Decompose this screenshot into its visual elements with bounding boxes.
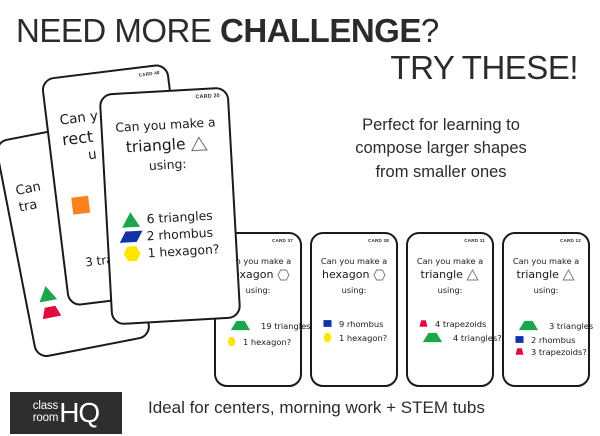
task-card-row-3[interactable]: CARD 11 Can you make a triangle using: 4… bbox=[406, 232, 494, 387]
green-triangle-icon bbox=[423, 333, 442, 342]
card-item bbox=[41, 305, 62, 319]
card-number: CARD 37 bbox=[272, 238, 293, 243]
card-question-line-3: using: bbox=[408, 284, 492, 296]
card-item-list: 4 trapezoids 4 triangles? bbox=[417, 318, 502, 346]
green-triangle-icon bbox=[37, 284, 58, 302]
card-number: CARD 12 bbox=[560, 238, 581, 243]
card-question-line-1: Can you make a bbox=[408, 255, 492, 267]
blue-rhombus-icon bbox=[323, 320, 331, 327]
description-blurb: Perfect for learning to compose larger s… bbox=[296, 114, 586, 184]
card-question-line-3: using: bbox=[504, 284, 588, 296]
card-item-label: 2 rhombus bbox=[146, 225, 213, 244]
red-trapezoid-icon bbox=[41, 305, 62, 319]
card-item-list: 3 triangles 2 rhombus 3 trapezoids? bbox=[513, 318, 593, 358]
card-item-label: 4 triangles? bbox=[453, 333, 502, 343]
blurb-line-1: Perfect for learning to bbox=[296, 114, 586, 137]
red-trapezoid-icon bbox=[419, 320, 427, 327]
card-item: 4 trapezoids bbox=[417, 318, 502, 329]
yellow-hexagon-icon bbox=[227, 337, 235, 346]
card-item-label: 4 trapezoids bbox=[435, 319, 486, 329]
task-card-row-2[interactable]: CARD 38 Can you make a hexagon using: 9 … bbox=[310, 232, 398, 387]
card-item: 4 triangles? bbox=[417, 330, 502, 345]
card-question-shape-word: triangle bbox=[125, 135, 186, 156]
card-number: CARD 11 bbox=[464, 238, 485, 243]
card-question: Can you make a triangle using: bbox=[101, 89, 231, 177]
card-question: Can you make a triangle using: bbox=[408, 234, 492, 296]
card-question-shape-word: hexagon bbox=[322, 268, 369, 281]
card-item-label: 6 triangles bbox=[146, 208, 213, 227]
card-question-line-2: triangle bbox=[408, 267, 492, 284]
card-question-shape-word: triangle bbox=[421, 268, 463, 281]
blurb-line-3: from smaller ones bbox=[296, 161, 586, 184]
logo-wordmark: class room bbox=[33, 401, 58, 424]
card-item-label: 9 rhombus bbox=[339, 319, 383, 329]
classroom-hq-logo[interactable]: class room HQ bbox=[10, 392, 122, 434]
card-item: 1 hexagon? bbox=[123, 241, 220, 261]
card-question: Can you make a hexagon using: bbox=[312, 234, 396, 296]
card-item bbox=[37, 284, 59, 302]
logo-word-room: room bbox=[33, 413, 58, 425]
card-question-line-1: Can you make a bbox=[312, 255, 396, 267]
card-item-list bbox=[37, 284, 63, 325]
triangle-outline-icon bbox=[190, 135, 208, 151]
blurb-line-2: compose larger shapes bbox=[296, 137, 586, 160]
card-question-line-2: triangle bbox=[504, 267, 588, 284]
orange-square-icon bbox=[71, 196, 90, 215]
green-triangle-icon bbox=[231, 321, 250, 330]
card-question-line-1: Can you make a bbox=[504, 255, 588, 267]
card-item-list: 6 triangles 2 rhombus 1 hexagon? bbox=[121, 207, 220, 263]
logo-hq-text: HQ bbox=[59, 401, 99, 425]
card-question-line-3: using: bbox=[312, 284, 396, 296]
red-trapezoid-icon bbox=[515, 348, 523, 355]
card-item-label: 2 rhombus bbox=[531, 335, 575, 345]
card-number: CARD 38 bbox=[368, 238, 389, 243]
task-card-20[interactable]: CARD 20 Can you make a triangle using: 6… bbox=[99, 87, 242, 326]
blue-rhombus-icon bbox=[120, 231, 143, 243]
yellow-hexagon-icon bbox=[123, 246, 141, 262]
yellow-hexagon-icon bbox=[323, 333, 331, 342]
triangle-outline-icon bbox=[562, 269, 575, 281]
card-item-label: 1 hexagon? bbox=[243, 337, 291, 347]
card-item-list: 19 triangles 1 hexagon? bbox=[225, 318, 311, 350]
card-item: 1 hexagon? bbox=[321, 330, 387, 345]
card-item: 3 trapezoids? bbox=[513, 346, 593, 357]
headline-question-mark: ? bbox=[421, 12, 439, 49]
hexagon-outline-icon bbox=[277, 269, 290, 281]
card-item-label: 3 triangles bbox=[549, 321, 593, 331]
card-item-label: 1 hexagon? bbox=[339, 333, 387, 343]
task-card-row-4[interactable]: CARD 12 Can you make a triangle using: 3… bbox=[502, 232, 590, 387]
card-item-label: 19 triangles bbox=[261, 321, 311, 331]
card-question-line-2: hexagon bbox=[312, 267, 396, 284]
triangle-outline-icon bbox=[466, 269, 479, 281]
card-item-label: 1 hexagon? bbox=[147, 241, 220, 260]
card-item-list: 9 rhombus 1 hexagon? bbox=[321, 318, 387, 346]
card-item: 3 triangles bbox=[513, 318, 593, 333]
card-question: Can you make a triangle using: bbox=[504, 234, 588, 296]
blue-rhombus-icon bbox=[515, 336, 523, 343]
card-item: 19 triangles bbox=[225, 318, 311, 333]
green-triangle-icon bbox=[121, 212, 140, 228]
hexagon-outline-icon bbox=[373, 269, 386, 281]
footer-tagline: Ideal for centers, morning work + STEM t… bbox=[148, 398, 485, 418]
green-triangle-icon bbox=[519, 321, 538, 330]
card-item: 9 rhombus bbox=[321, 318, 387, 329]
card-question-shape-word: triangle bbox=[517, 268, 559, 281]
logo-inner: class room HQ bbox=[33, 401, 99, 425]
card-item-label: 3 trapezoids? bbox=[531, 347, 587, 357]
card-item: 1 hexagon? bbox=[225, 334, 311, 349]
card-item: 2 rhombus bbox=[513, 334, 593, 345]
